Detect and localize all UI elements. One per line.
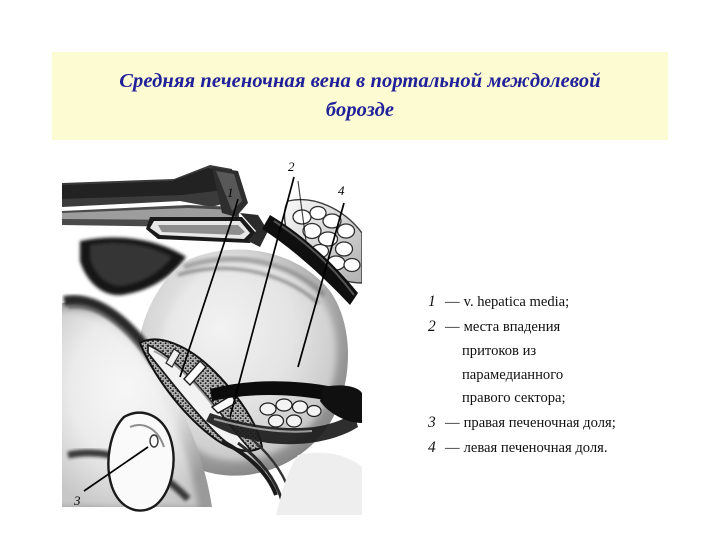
legend-item-2: 2 — места впадения [428, 315, 678, 340]
title-banner: Средняя печеночная вена в портальной меж… [52, 52, 668, 140]
legend-continuation-2b: парамедианного [428, 364, 678, 388]
legend-number-4: 4 [428, 436, 440, 461]
anatomical-illustration: 1 2 4 3 [62, 155, 362, 515]
legend-continuation-2c: правого сектора; [428, 387, 678, 411]
legend-dash-2: — [440, 316, 464, 340]
legend-number-2: 2 [428, 315, 440, 340]
legend-text-3: правая печеночная доля; [464, 412, 616, 436]
legend-dash-4: — [440, 437, 464, 461]
legend-number-1: 1 [428, 290, 440, 315]
callout-label-2: 2 [288, 159, 295, 174]
legend-text-4: левая печеночная доля. [464, 437, 608, 461]
gallbladder-structure [108, 413, 173, 511]
callout-label-1: 1 [227, 185, 234, 200]
legend-text-1: v. hepatica media; [464, 291, 570, 315]
legend-text-2: места впадения [464, 316, 561, 340]
illustration-svg: 1 2 4 3 [62, 155, 362, 515]
legend-item-3: 3 — правая печеночная доля; [428, 411, 678, 436]
callout-label-4: 4 [338, 183, 345, 198]
callout-label-3: 3 [73, 493, 81, 508]
legend-dash-3: — [440, 412, 464, 436]
legend-dash-1: — [440, 291, 464, 315]
legend-list: 1 — v. hepatica media; 2 — места впадени… [428, 290, 678, 461]
legend-number-3: 3 [428, 411, 440, 436]
legend-item-1: 1 — v. hepatica media; [428, 290, 678, 315]
slide-canvas: Средняя печеночная вена в портальной меж… [0, 0, 720, 540]
legend-item-4: 4 — левая печеночная доля. [428, 436, 678, 461]
page-title: Средняя печеночная вена в портальной меж… [90, 67, 630, 125]
legend-continuation-2a: притоков из [428, 340, 678, 364]
